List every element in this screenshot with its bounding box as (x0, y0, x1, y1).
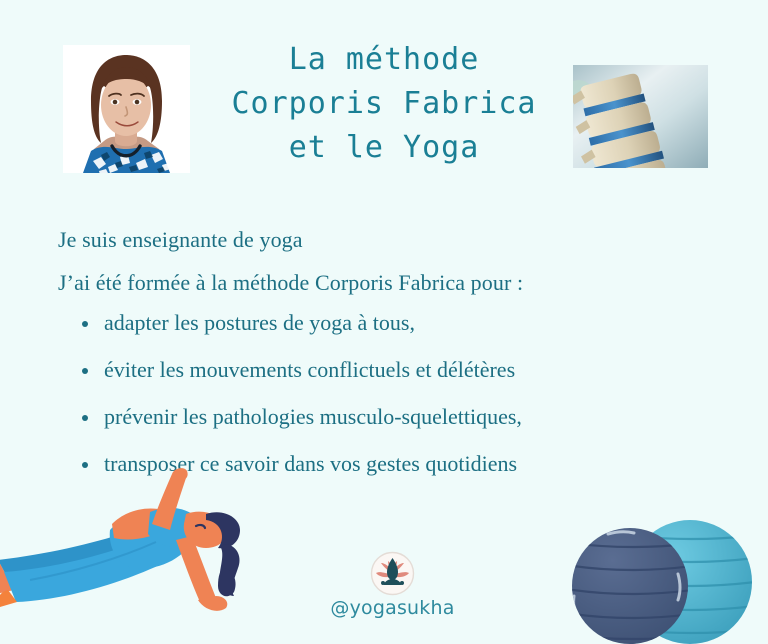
lotus-logo-icon (370, 551, 415, 596)
list-item: éviter les mouvements conflictuels et dé… (76, 357, 522, 383)
yogasukha-logo (370, 551, 415, 596)
spine-illustration (573, 65, 708, 168)
page-title: La méthode Corporis Fabrica et le Yoga (190, 38, 578, 170)
stability-balls (558, 504, 768, 644)
portrait-illustration (63, 45, 190, 173)
list-item: adapter les postures de yoga à tous, (76, 310, 522, 336)
teacher-portrait-photo (63, 45, 190, 173)
list-item: prévenir les pathologies musculo-squelet… (76, 404, 522, 430)
spine-vertebrae-photo (573, 65, 708, 168)
intro-line-1: Je suis enseignante de yoga (58, 227, 303, 253)
exercise-balls-illustration (558, 504, 768, 644)
social-handle[interactable]: @yogasukha (245, 597, 540, 619)
poster-canvas: La méthode Corporis Fabrica et le Yoga J… (0, 0, 768, 644)
intro-line-2: J’ai été formée à la méthode Corporis Fa… (58, 270, 523, 296)
